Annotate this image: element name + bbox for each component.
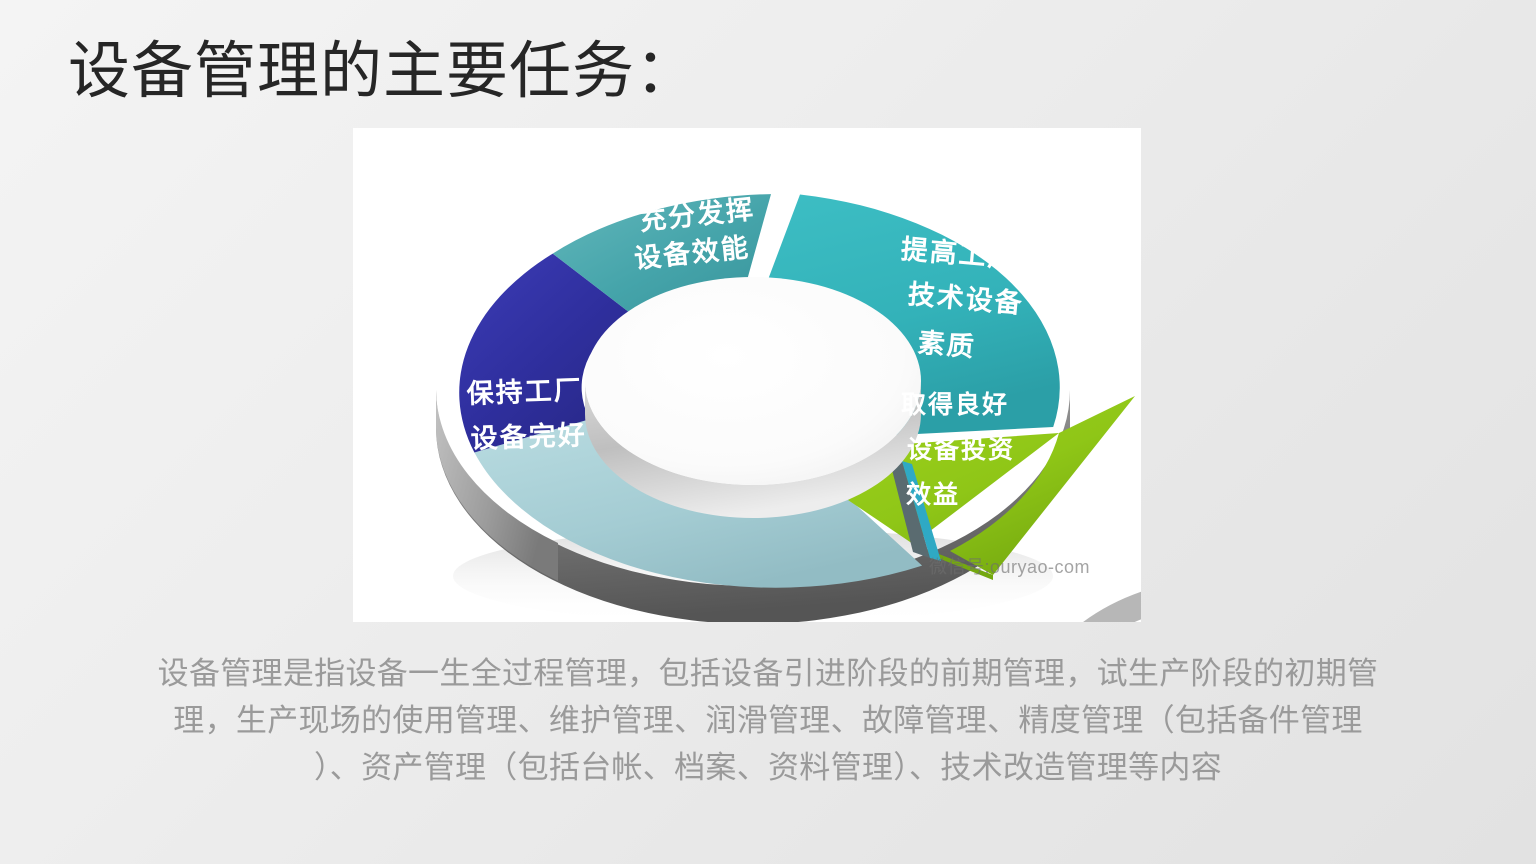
equipment-management-donut-figure: 充分发挥 设备效能 提高工厂 技术设备 素质 取得良好 设备投资 效益 保持工厂… bbox=[353, 128, 1141, 622]
wechat-watermark: 微信号:ouryao-com bbox=[898, 553, 1090, 579]
page-title: 设备管理的主要任务： bbox=[68, 38, 698, 106]
caption-line-2: 理，生产现场的使用管理、维护管理、润滑管理、故障管理、精度管理（包括备件管理 bbox=[70, 697, 1466, 744]
wechat-icon bbox=[898, 556, 922, 577]
donut-chart-svg: 充分发挥 设备效能 提高工厂 技术设备 素质 取得良好 设备投资 效益 保持工厂… bbox=[353, 128, 1141, 622]
caption-line-1: 设备管理是指设备一生全过程管理，包括设备引进阶段的前期管理，试生产阶段的初期管 bbox=[70, 650, 1466, 697]
slide-canvas: 设备管理的主要任务： bbox=[0, 0, 1536, 864]
caption-block: 设备管理是指设备一生全过程管理，包括设备引进阶段的前期管理，试生产阶段的初期管 … bbox=[70, 650, 1466, 791]
donut-hole bbox=[585, 277, 921, 485]
svg-text:设备完好: 设备完好 bbox=[470, 419, 587, 454]
svg-text:效益: 效益 bbox=[906, 480, 960, 509]
svg-text:素质: 素质 bbox=[917, 328, 977, 363]
svg-text:设备投资: 设备投资 bbox=[907, 435, 1015, 464]
caption-line-3: ）、资产管理（包括台帐、档案、资料管理）、技术改造管理等内容 bbox=[70, 744, 1466, 791]
svg-text:保持工厂: 保持工厂 bbox=[465, 375, 583, 409]
photo-fragment-artifact bbox=[353, 546, 425, 622]
svg-text:取得良好: 取得良好 bbox=[901, 390, 1009, 419]
